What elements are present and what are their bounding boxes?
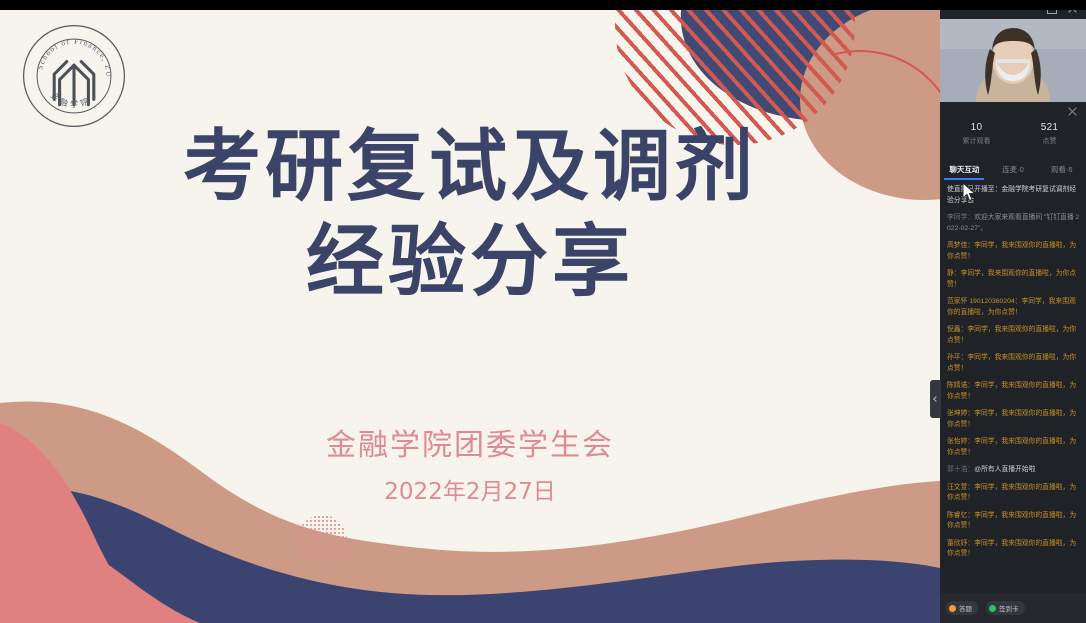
chat-message-author: 李同学： xyxy=(947,214,974,221)
logo-outer-text: School of Finance, ZUFE xyxy=(20,22,114,78)
chat-message-author: 陈婧诺： xyxy=(947,382,974,389)
chat-message-author: 陈睿忆： xyxy=(947,512,974,519)
chat-message-text: 李同学，我来围观你的直播啦，为你点赞！ xyxy=(947,270,1076,288)
screen-root: School of Finance, ZUFE 金融学院 考研复试及调剂 经验分… xyxy=(0,0,1086,623)
stat-views-label: 累计观看 xyxy=(940,136,1013,147)
organization-label: 金融学院团委学生会 xyxy=(0,420,940,464)
chat-message: 李同学：欢迎大家来观看直播间 "钉钉直播 2022-02-27"。 xyxy=(947,213,1080,234)
chat-message-author: 郭十浩： xyxy=(947,466,974,473)
svg-text:School of Finance, ZUFE: School of Finance, ZUFE xyxy=(20,22,114,78)
chat-message: 范家怀 190120360204：李同学，我来围观你的直播啦，为你点赞！ xyxy=(947,297,1080,318)
panel-header xyxy=(940,104,1086,120)
slide-subtitle-block: 金融学院团委学生会 2022年2月27日 xyxy=(0,420,940,506)
chevron-left-icon xyxy=(933,396,939,402)
mouse-cursor xyxy=(962,182,976,202)
chat-message: 陈睿忆：李同学，我来围观你的直播啦，为你点赞！ xyxy=(947,511,1080,532)
stat-views: 10 累计观看 xyxy=(940,122,1013,157)
chat-message-author: 张怡婷： xyxy=(947,438,974,445)
tab-viewers[interactable]: 观看·6 xyxy=(1037,160,1086,180)
chat-message-author: 高梦佳： xyxy=(947,242,974,249)
page-title: 考研复试及调剂 经验分享 xyxy=(0,120,940,310)
tab-connect[interactable]: 连麦·0 xyxy=(989,160,1038,180)
stat-likes-value: 521 xyxy=(1013,122,1086,134)
chat-message-author: 孙平： xyxy=(947,354,967,361)
panel-tabs: 聊天互动 连麦·0 观看·6 xyxy=(940,160,1086,180)
checkin-label: 签到卡 xyxy=(999,603,1019,613)
chat-message-author: 汪文萱： xyxy=(947,484,974,491)
chat-message-author: 静： xyxy=(947,270,961,277)
title-line-1: 考研复试及调剂 xyxy=(0,120,940,215)
chat-message: 郭十浩：@所有人直播开始啦 xyxy=(947,465,1080,476)
quiz-icon xyxy=(949,605,956,612)
chat-message-list[interactable]: 使直播已开播至：金融学院考研复试调剂经验分享会李同学：欢迎大家来观看直播间 "钉… xyxy=(940,182,1086,592)
chat-message-author: 倪鑫： xyxy=(947,326,967,333)
school-logo: School of Finance, ZUFE 金融学院 xyxy=(20,22,128,130)
chat-message: 汪文萱：李同学，我来围观你的直播啦，为你点赞！ xyxy=(947,483,1080,504)
collapse-panel-handle[interactable] xyxy=(930,380,941,418)
chat-message: 高梦佳：李同学，我来围观你的直播啦，为你点赞！ xyxy=(947,241,1080,262)
quiz-button[interactable]: 答题 xyxy=(946,601,978,615)
panel-bottom-bar: 答题 签到卡 xyxy=(940,593,1086,623)
panel-close-icon[interactable] xyxy=(1067,106,1078,117)
title-line-2: 经验分享 xyxy=(0,215,940,310)
presenter-avatar-image xyxy=(940,19,1086,102)
presenter-video-tile[interactable] xyxy=(940,19,1086,102)
chat-message: 孙平：李同学，我来围观你的直播啦，为你点赞！ xyxy=(947,353,1080,374)
chat-message: 静：李同学，我来围观你的直播啦，为你点赞！ xyxy=(947,269,1080,290)
checkin-button[interactable]: 签到卡 xyxy=(986,601,1025,615)
stats-row: 10 累计观看 521 点赞 xyxy=(940,122,1086,157)
quiz-label: 答题 xyxy=(959,603,972,613)
chat-message: 张坤婷：李同学，我来围观你的直播啦，为你点赞！ xyxy=(947,409,1080,430)
presentation-slide: School of Finance, ZUFE 金融学院 考研复试及调剂 经验分… xyxy=(0,10,940,623)
chat-message: 董欣妤：李同学，我来围观你的直播啦，为你点赞！ xyxy=(947,539,1080,560)
top-black-strip xyxy=(0,0,1086,10)
date-label: 2022年2月27日 xyxy=(0,472,940,506)
chat-message-text: 李同学，我来围观你的直播啦，为你点赞！ xyxy=(947,354,1076,372)
chat-message: 张怡婷：李同学，我来围观你的直播啦，为你点赞！ xyxy=(947,437,1080,458)
live-stream-sidebar: 10 累计观看 521 点赞 聊天互动 连麦·0 观看·6 使直播已开播至：金融… xyxy=(940,0,1086,623)
checkin-icon xyxy=(989,605,996,612)
stat-likes: 521 点赞 xyxy=(1013,122,1086,157)
chat-message-author: 董欣妤： xyxy=(947,540,974,547)
stat-likes-label: 点赞 xyxy=(1013,136,1086,147)
chat-message-text: @所有人直播开始啦 xyxy=(974,466,1035,473)
chat-message-author: 范家怀 190120360204： xyxy=(947,298,1021,305)
stat-views-value: 10 xyxy=(940,122,1013,134)
chat-message-author: 张坤婷： xyxy=(947,410,974,417)
tab-chat[interactable]: 聊天互动 xyxy=(940,160,989,180)
chat-message-text: 李同学，我来围观你的直播啦，为你点赞！ xyxy=(947,326,1076,344)
chat-message: 倪鑫：李同学，我来围观你的直播啦，为你点赞！ xyxy=(947,325,1080,346)
chat-message: 陈婧诺：李同学，我来围观你的直播啦，为你点赞！ xyxy=(947,381,1080,402)
